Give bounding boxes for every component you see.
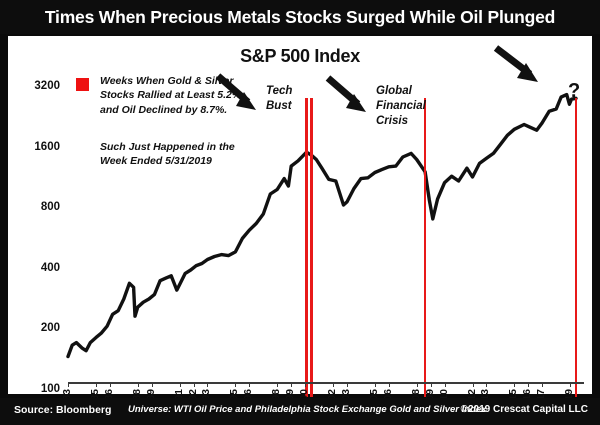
footer-copyright: ©2019 Crescat Capital LLC (461, 404, 588, 415)
footer-bar: Source: Bloomberg Universe: WTI Oil Pric… (0, 398, 600, 425)
x-axis-line (68, 382, 584, 384)
annotation-question-mark: ? (568, 80, 580, 103)
x-tick-2019 (570, 382, 571, 387)
chart-image-root: Times When Precious Metals Stocks Surged… (0, 0, 600, 425)
x-tick-1996 (249, 382, 250, 387)
x-tick-1991 (180, 382, 181, 387)
x-tick-1989 (152, 382, 153, 387)
x-tick-2003 (347, 382, 348, 387)
x-tick-2000 (305, 382, 306, 387)
annotation-global-financial-crisis: Global Financial Crisis (376, 84, 426, 129)
chart-panel: S&P 500 Index Weeks When Gold & Silver S… (8, 36, 592, 394)
x-tick-2008 (417, 382, 418, 387)
x-tick-2010 (445, 382, 446, 387)
x-tick-1988 (138, 382, 139, 387)
x-tick-1993 (207, 382, 208, 387)
x-tick-2006 (389, 382, 390, 387)
x-tick-1999 (291, 382, 292, 387)
x-tick-2005 (375, 382, 376, 387)
footer-source: Source: Bloomberg (14, 404, 111, 416)
annotation-tech-bust: Tech Bust (266, 84, 292, 114)
header-title-bar: Times When Precious Metals Stocks Surged… (0, 0, 600, 34)
x-tick-1992 (194, 382, 195, 387)
x-tick-2016 (528, 382, 529, 387)
x-tick-2002 (333, 382, 334, 387)
x-tick-2015 (514, 382, 515, 387)
x-tick-2009 (431, 382, 432, 387)
footer-universe: Universe: WTI Oil Price and Philadelphia… (128, 404, 486, 415)
x-tick-2013 (486, 382, 487, 387)
x-tick-2017 (542, 382, 543, 387)
annotation-arrows (8, 36, 592, 394)
x-tick-2012 (473, 382, 474, 387)
page-title: Times When Precious Metals Stocks Surged… (45, 7, 555, 28)
x-tick-1998 (277, 382, 278, 387)
x-tick-1995 (235, 382, 236, 387)
x-tick-1983 (68, 382, 69, 387)
x-tick-1985 (96, 382, 97, 387)
x-tick-1986 (110, 382, 111, 387)
